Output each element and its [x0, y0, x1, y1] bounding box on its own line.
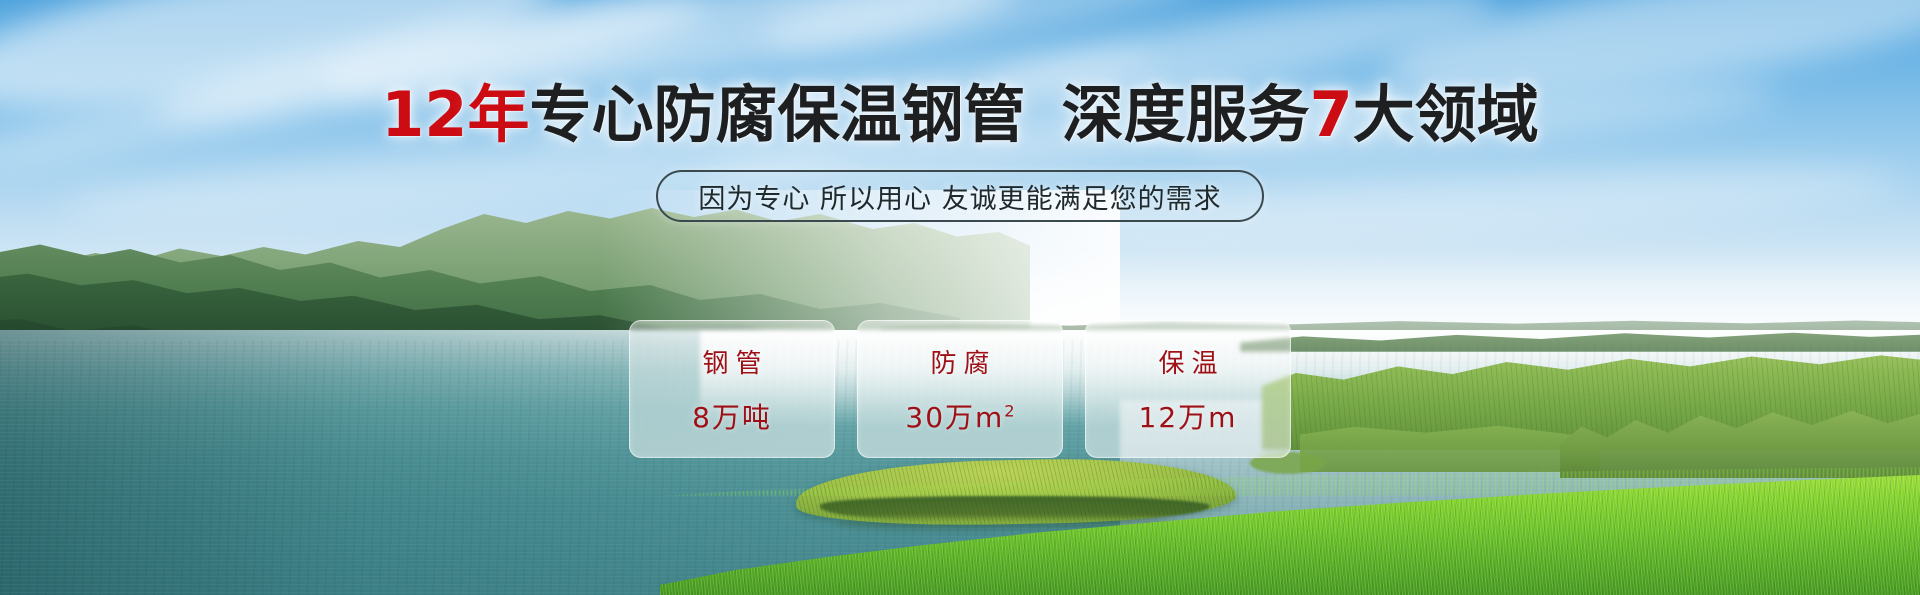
stat-card-value: 8万吨	[692, 396, 772, 436]
headline-segment-specialty: 专心防腐保温钢管	[530, 78, 1026, 151]
headline: 12年专心防腐保温钢管深度服务7大领域	[0, 84, 1920, 146]
hero-banner: 12年专心防腐保温钢管深度服务7大领域 因为专心 所以用心 友诚更能满足您的需求…	[0, 0, 1920, 595]
headline-fields-number: 7	[1310, 78, 1353, 151]
stat-card-value: 12万m	[1139, 396, 1238, 436]
stat-card-insulation[interactable]: 保温 12万m	[1085, 320, 1291, 458]
stat-card-value-text: 12万m	[1139, 401, 1238, 434]
headline-years-number: 12	[381, 78, 467, 151]
stat-card-value: 30万m2	[905, 396, 1014, 436]
headline-segment-service: 深度服务	[1062, 78, 1310, 151]
stat-card-value-text: 30万m	[905, 401, 1004, 434]
stat-card-label: 钢管	[695, 343, 768, 380]
stat-card-label: 防腐	[923, 343, 996, 380]
headline-segment-fields: 大领域	[1353, 78, 1539, 151]
headline-years-unit: 年	[468, 78, 530, 151]
stat-card-label: 保温	[1151, 343, 1224, 380]
stat-card-value-exponent: 2	[1004, 401, 1014, 420]
subtitle-pill: 因为专心 所以用心 友诚更能满足您的需求	[656, 170, 1263, 222]
banner-content: 12年专心防腐保温钢管深度服务7大领域 因为专心 所以用心 友诚更能满足您的需求…	[0, 0, 1920, 595]
subtitle-container: 因为专心 所以用心 友诚更能满足您的需求	[0, 170, 1920, 222]
stat-cards: 钢管 8万吨 防腐 30万m2 保温 12万m	[0, 320, 1920, 458]
stat-card-steel-pipe[interactable]: 钢管 8万吨	[629, 320, 835, 458]
stat-card-value-text: 8万吨	[692, 401, 772, 434]
stat-card-anticorrosion[interactable]: 防腐 30万m2	[857, 320, 1063, 458]
